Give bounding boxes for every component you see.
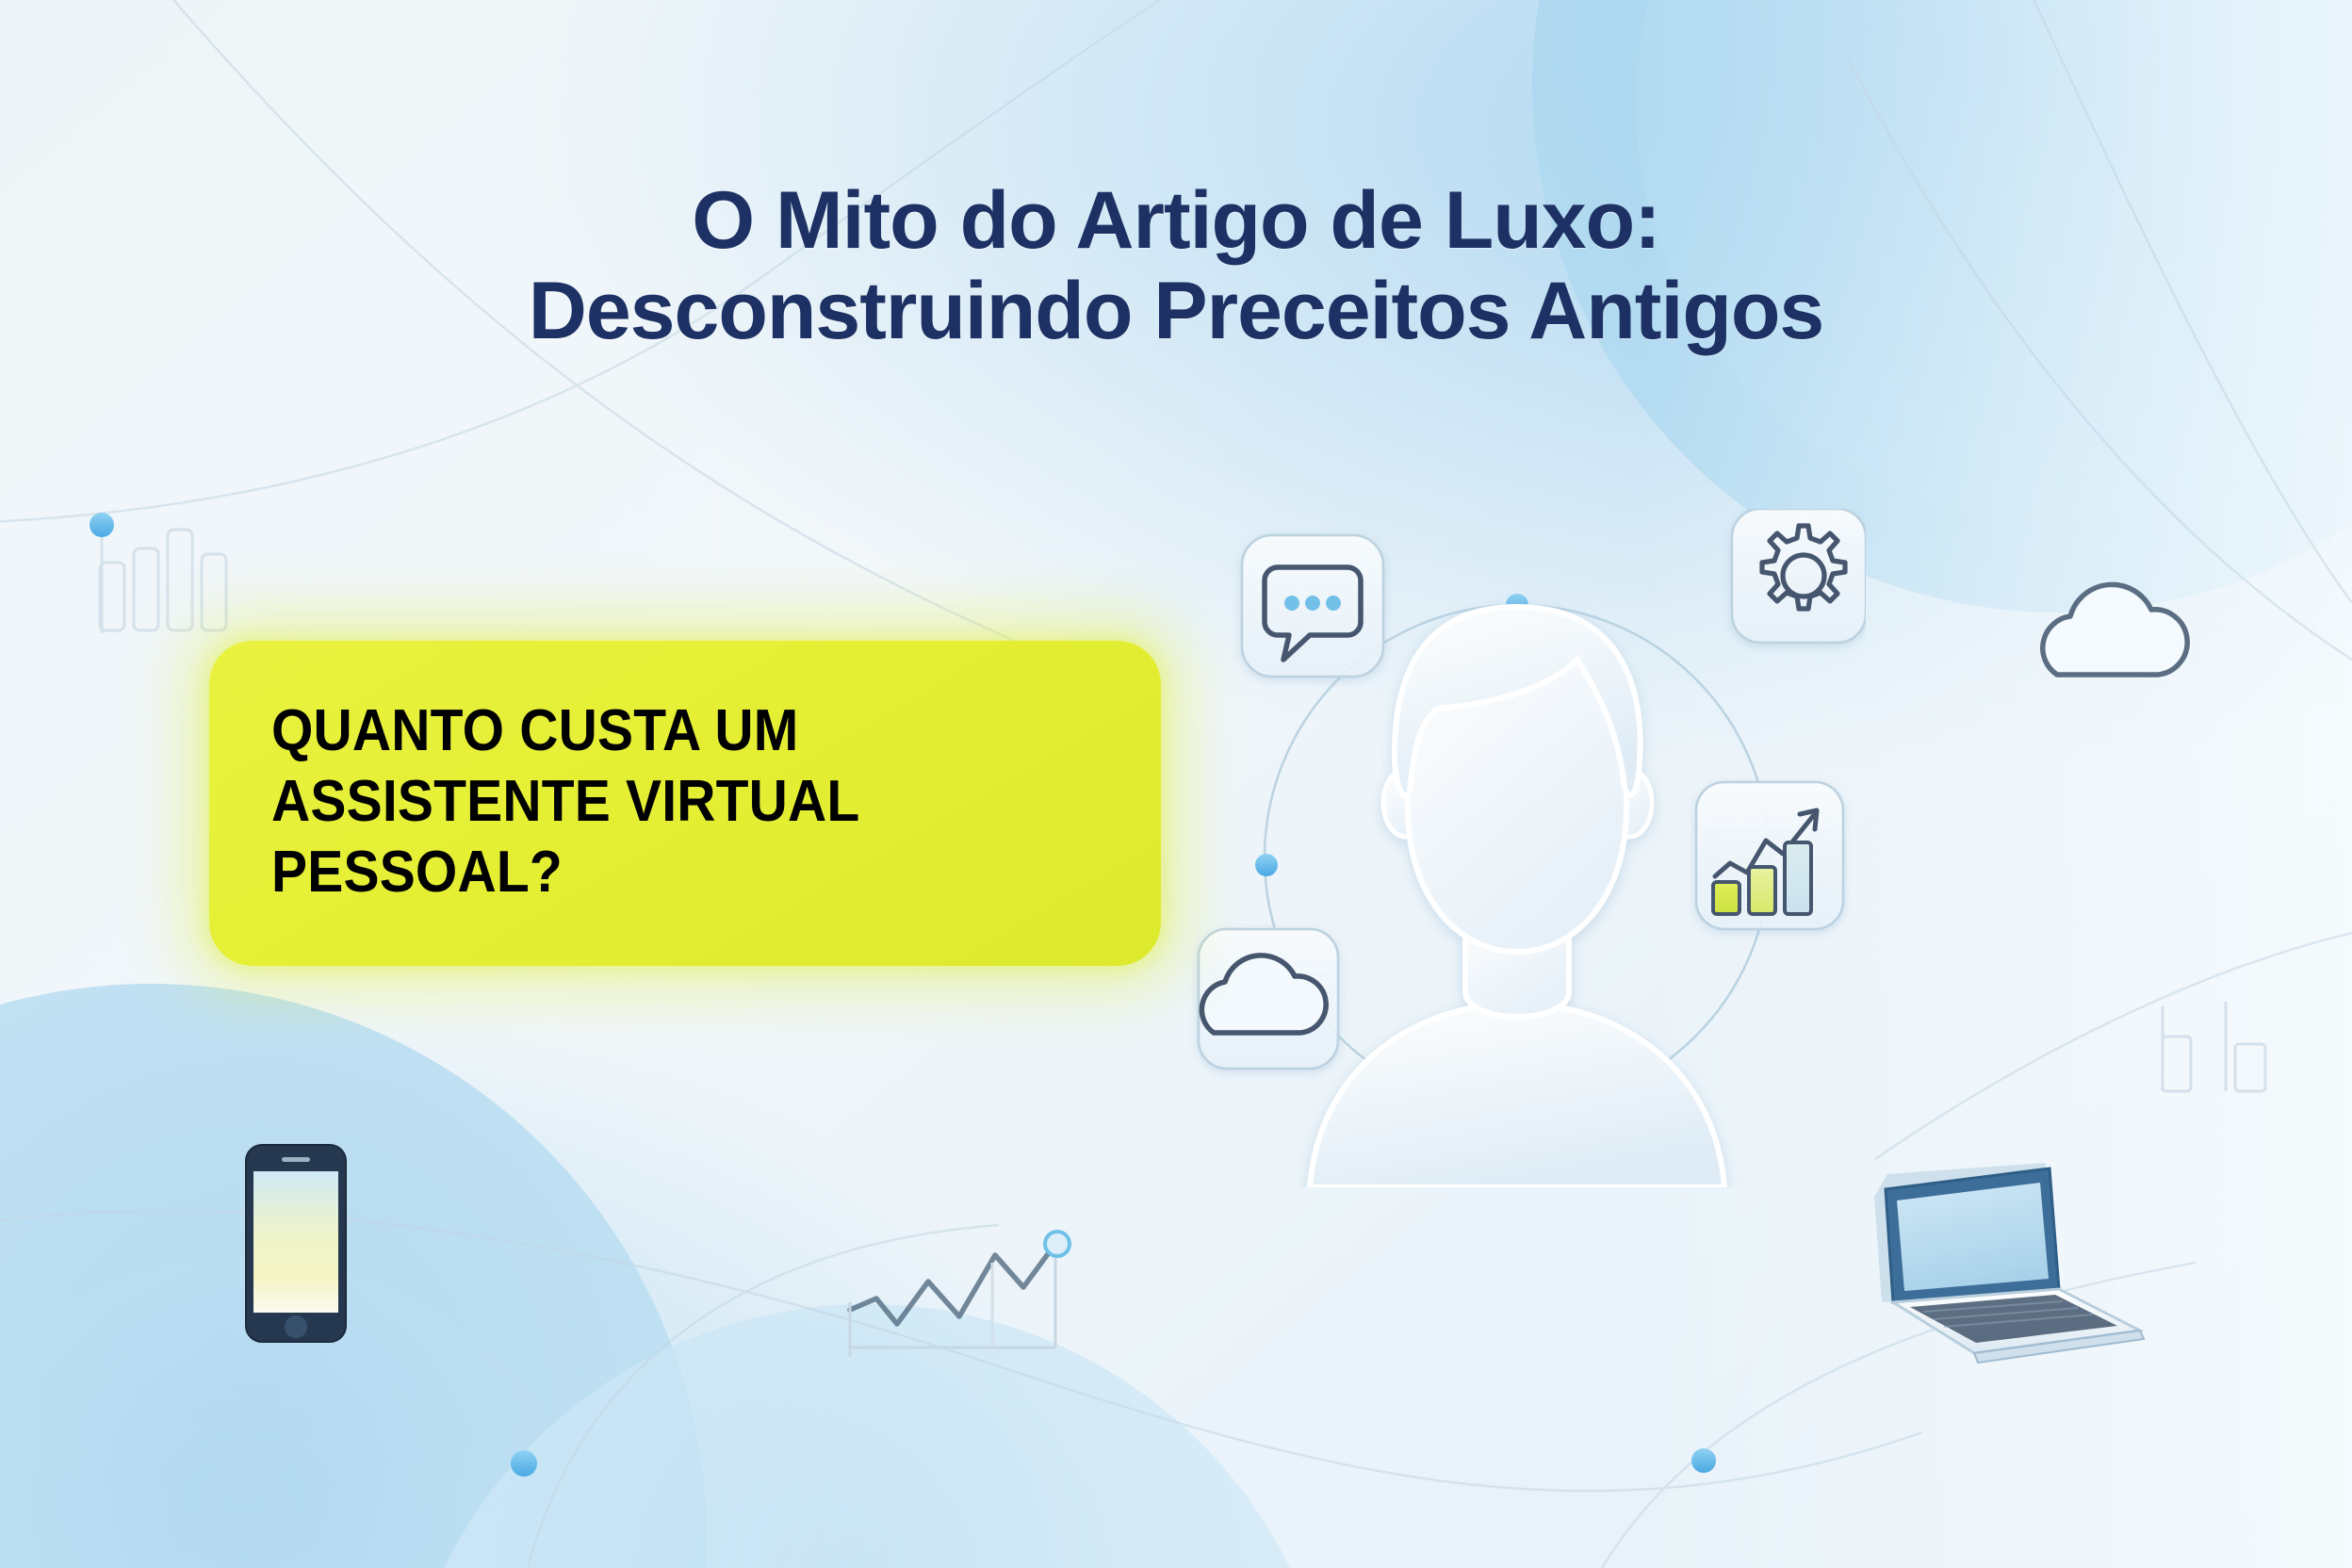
bar-chart-outline-icon	[100, 530, 226, 633]
cloud-icon-floating	[2031, 577, 2210, 690]
orbit-node-dot	[1255, 854, 1278, 876]
smartphone-icon	[243, 1142, 349, 1345]
chat-dot	[1326, 596, 1341, 611]
banner-canvas: O Mito do Artigo de Luxo: Desconstruindo…	[0, 0, 2352, 1568]
analytics-card	[1696, 782, 1843, 929]
cloud-card	[1199, 929, 1338, 1069]
chat-dot	[1284, 596, 1299, 611]
chat-card	[1242, 535, 1383, 677]
line-chart-zigzag-icon	[850, 1232, 1070, 1357]
page-title-line-2: Desconstruindo Preceitos Antigos	[113, 266, 2239, 356]
laptop-icon	[1861, 1151, 2172, 1378]
avatar	[1310, 607, 1724, 1187]
phone-speaker	[282, 1157, 310, 1162]
chat-dot	[1305, 596, 1320, 611]
highlight-question-text: QUANTO CUSTA UM ASSISTENTE VIRTUAL PESSO…	[271, 695, 1033, 907]
page-title: O Mito do Artigo de Luxo: Desconstruindo…	[0, 175, 2352, 357]
highlight-callout: QUANTO CUSTA UM ASSISTENTE VIRTUAL PESSO…	[209, 641, 1161, 966]
settings-card	[1732, 509, 1866, 643]
network-node-dot	[1691, 1448, 1716, 1473]
virtual-assistant-illustration	[1168, 509, 1866, 1187]
highlight-box: QUANTO CUSTA UM ASSISTENTE VIRTUAL PESSO…	[209, 641, 1161, 966]
network-node-dot	[90, 513, 114, 537]
page-title-line-1: O Mito do Artigo de Luxo:	[692, 175, 1660, 266]
bar-chart-outline-icon	[2163, 1002, 2265, 1091]
network-node-dot	[511, 1450, 537, 1477]
